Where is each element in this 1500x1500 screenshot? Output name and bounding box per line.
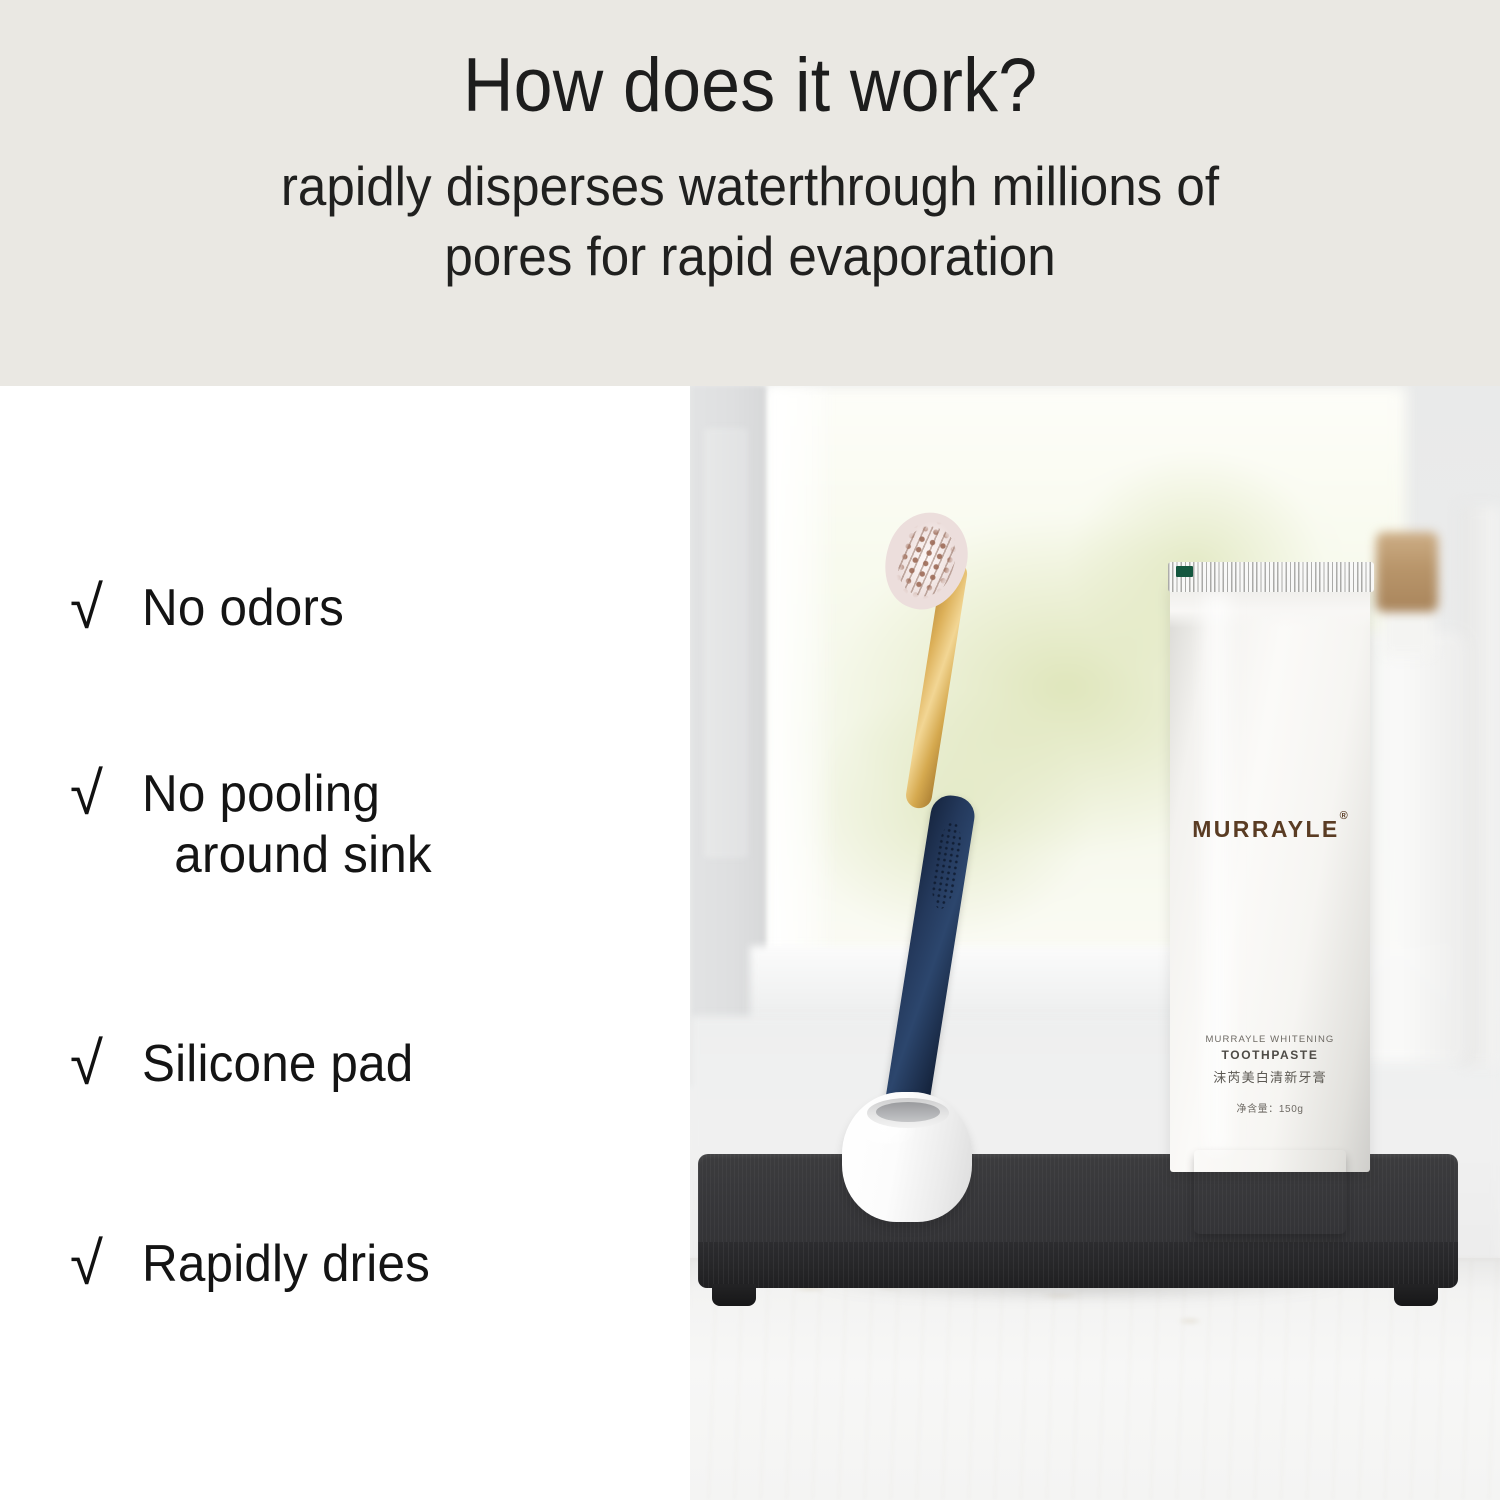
trademark-symbol: ® [1340, 810, 1348, 822]
feature-label-2: Silicone pad [142, 1034, 413, 1095]
product-photo: MURRAYLE® MURRAYLE WHITENING TOOTHPASTE … [690, 386, 1500, 1500]
window-frame-panel [704, 428, 748, 858]
tray-foot-left [712, 1284, 756, 1306]
page-title: How does it work? [463, 46, 1037, 126]
checkmark-icon: √ [70, 1034, 142, 1094]
tube-info-block: MURRAYLE WHITENING TOOTHPASTE 沫芮美白清新牙膏 净… [1170, 1034, 1370, 1115]
list-item: √ No odors [70, 578, 670, 639]
holder-opening [876, 1102, 940, 1122]
tube-info-line-3: 沫芮美白清新牙膏 [1170, 1067, 1370, 1086]
tube-info-line-1: MURRAYLE WHITENING [1170, 1034, 1370, 1045]
window-light-sheen [766, 386, 838, 978]
list-item: √ No pooling around sink [70, 764, 670, 887]
feature-label-3: Rapidly dries [142, 1234, 430, 1295]
checkmark-icon: √ [70, 1234, 142, 1294]
header-band: How does it work? rapidly disperses wate… [0, 0, 1500, 386]
tube-batch-mark [1176, 566, 1193, 577]
list-item: √ Rapidly dries [70, 1234, 670, 1295]
page-subtitle: rapidly disperses waterthrough millions … [146, 152, 1355, 292]
feature-label-1-line1: No pooling [142, 765, 380, 823]
dispenser-wooden-pump [1376, 532, 1438, 612]
list-item: √ Silicone pad [70, 1034, 670, 1095]
tube-crimp-seal [1168, 562, 1374, 592]
subtitle-line-1: rapidly disperses waterthrough millions … [281, 155, 1219, 217]
tube-net-weight: 净含量：150g [1170, 1100, 1370, 1115]
tube-info-line-2: TOOTHPASTE [1170, 1048, 1370, 1062]
subtitle-line-2: pores for rapid evaporation [444, 225, 1055, 287]
toothbrush-grip-texture [928, 820, 965, 911]
feature-list: √ No odors √ No pooling around sink √ Si… [0, 386, 690, 1500]
tube-brand-text: MURRAYLE [1192, 816, 1339, 842]
tube-brand-name: MURRAYLE® [1170, 816, 1370, 843]
feature-label-0: No odors [142, 578, 344, 639]
checkmark-icon: √ [70, 578, 142, 638]
checkmark-icon: √ [70, 764, 142, 824]
tray-front-texture [698, 1242, 1458, 1288]
tray-foot-right [1394, 1284, 1438, 1306]
tube-copper-cap [1194, 1150, 1346, 1234]
feature-label-1: No pooling around sink [142, 764, 432, 887]
infographic-page: How does it work? rapidly disperses wate… [0, 0, 1500, 1500]
feature-label-1-line2: around sink [142, 825, 432, 886]
